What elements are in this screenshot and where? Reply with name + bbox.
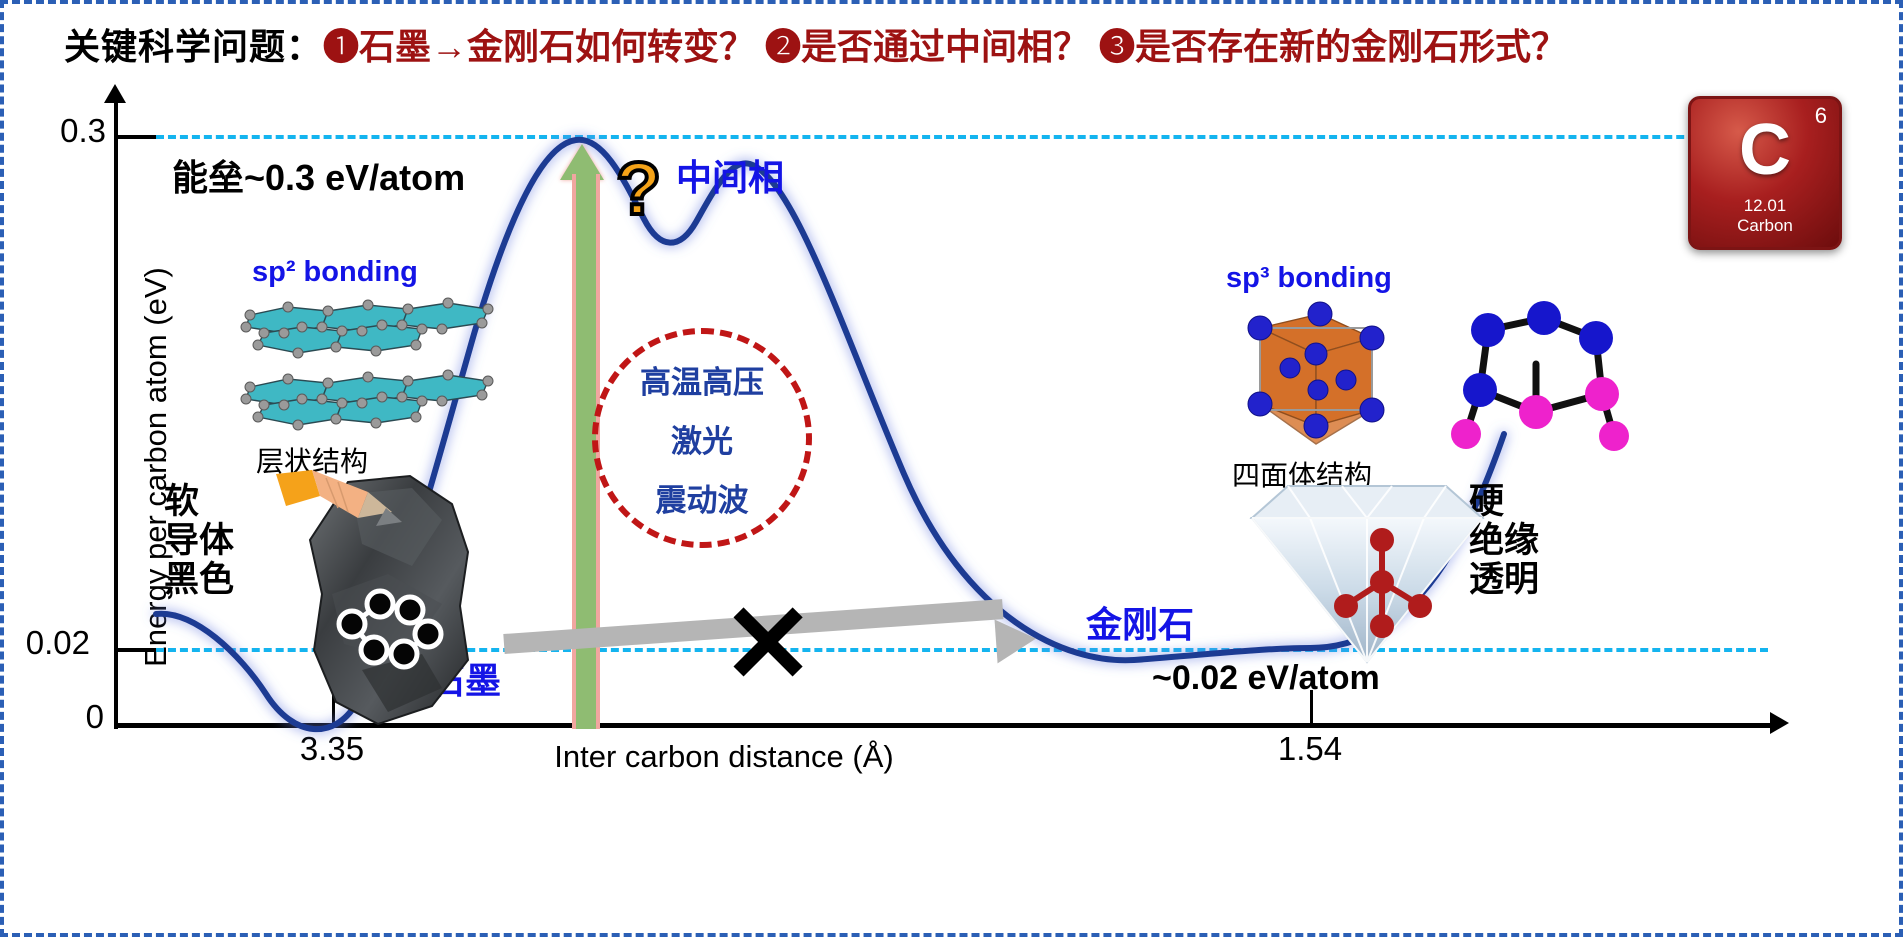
y-tick-label-002: 0.02: [0, 624, 90, 662]
infographic-root: 关键科学问题： ❶石墨→金刚石如何转变？ ❷是否通过中间相？ ❸是否存在新的金刚…: [0, 0, 1903, 937]
carbon-atomic-number: 6: [1815, 103, 1827, 129]
conditions-circle: 高温高压 激光 震动波: [592, 328, 812, 548]
carbon-atomic-mass: 12.01: [1744, 196, 1787, 216]
diamond-label: 金刚石: [1086, 596, 1194, 648]
title-lead: 关键科学问题：: [64, 18, 323, 70]
barrier-level-dashed-line: [156, 135, 1768, 139]
title-questions: ❶石墨→金刚石如何转变？ ❷是否通过中间相？ ❸是否存在新的金刚石形式？: [323, 18, 1567, 70]
graphite-property-2: 导体: [164, 521, 234, 560]
graphene-layers-illustration: [236, 289, 518, 439]
y-tick-mark-03: [114, 135, 156, 139]
x-tick-label-335: 3.35: [262, 730, 402, 768]
grey-arrow-head: [995, 617, 1038, 664]
y-tick-label-0: 0: [0, 698, 104, 736]
graphite-property-1: 软: [164, 482, 234, 521]
barrier-annotation: 能垒~0.3 eV/atom: [172, 149, 465, 201]
condition-item-3: 震动波: [656, 475, 749, 520]
condition-item-1: 高温高压: [640, 357, 764, 402]
diamond-unit-cell-illustration: [1220, 294, 1416, 464]
sp2-bonding-label: sp² bonding: [252, 256, 418, 289]
diamond-gem-image: [1232, 472, 1502, 672]
question-mark-icon: ?: [616, 146, 661, 231]
x-tick-label-154: 1.54: [1240, 730, 1380, 768]
pencil-icon: [276, 470, 402, 542]
y-tick-mark-002: [114, 648, 156, 652]
sp3-bonding-label: sp³ bonding: [1226, 262, 1392, 295]
graphite-property-3: 黑色: [164, 560, 234, 599]
y-axis-label: Energy per carbon atom (eV): [138, 157, 174, 777]
intermediate-phase-label: 中间相: [676, 149, 784, 201]
carbon-symbol: C: [1739, 116, 1791, 184]
condition-item-2: 激光: [671, 416, 733, 461]
diamond-lattice-illustration: [1444, 294, 1634, 464]
page-title: 关键科学问题： ❶石墨→金刚石如何转变？ ❷是否通过中间相？ ❸是否存在新的金刚…: [64, 18, 1854, 70]
graphite-properties: 软 导体 黑色: [164, 482, 234, 600]
carbon-element-name: Carbon: [1737, 216, 1793, 236]
x-axis-label: Inter carbon distance (Å): [444, 739, 1004, 775]
y-tick-label-03: 0.3: [0, 112, 106, 150]
cross-mark-icon: ✕: [722, 590, 814, 700]
carbon-element-tile: 6 C 12.01 Carbon: [1688, 96, 1842, 250]
